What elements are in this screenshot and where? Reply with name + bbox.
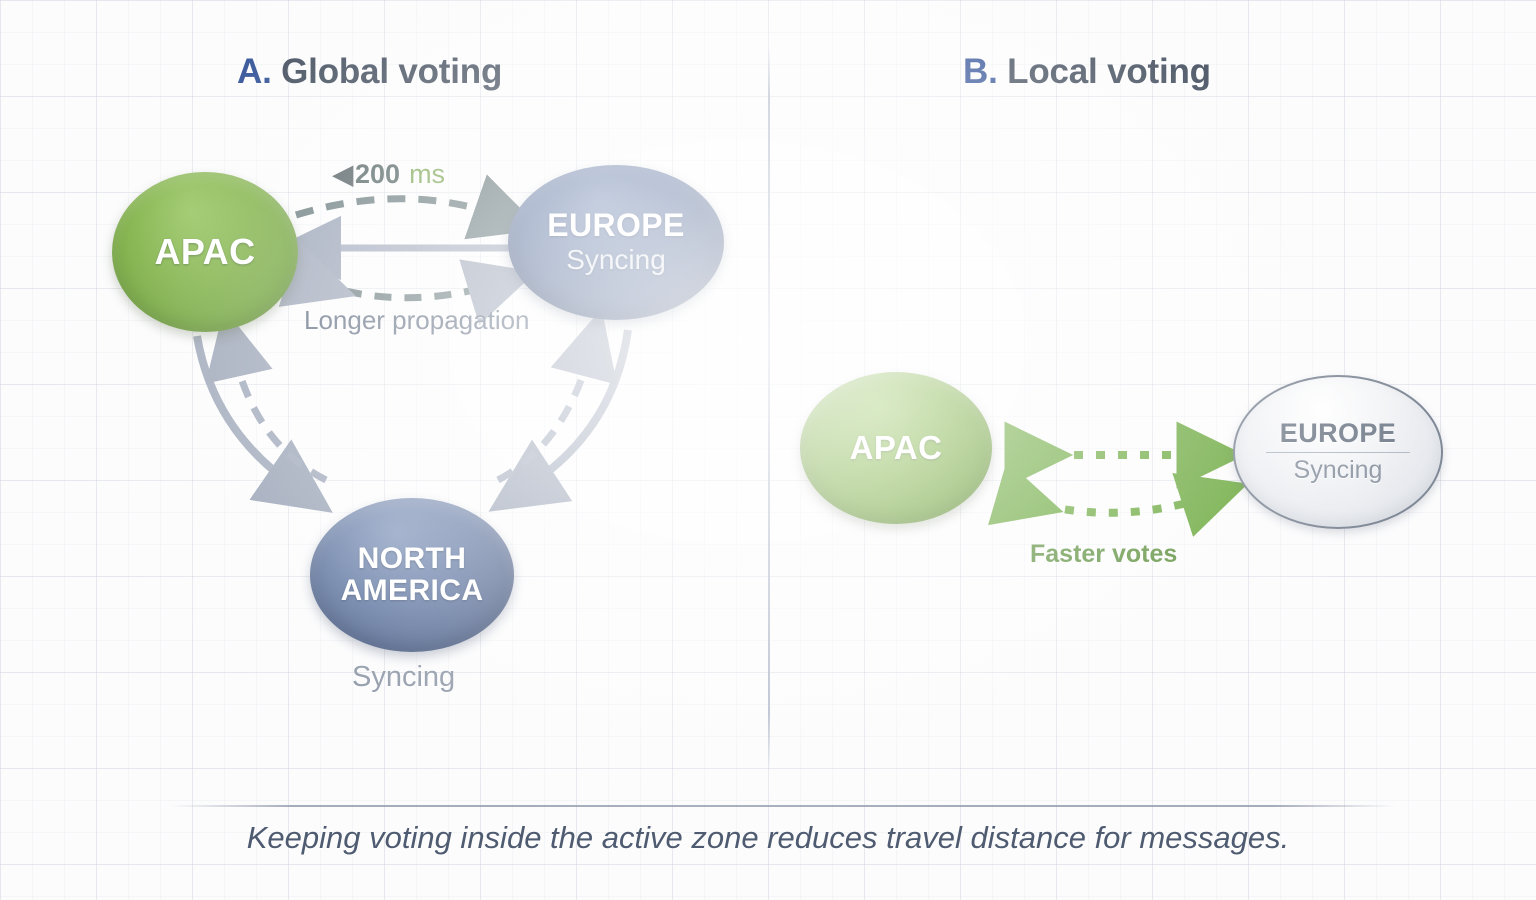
- node-north-america-title-line2: AMERICA: [341, 575, 484, 607]
- panel-a-title-text: Global voting: [281, 52, 502, 91]
- node-apac-global[interactable]: APAC: [112, 172, 298, 332]
- edge-apac-europe-dashed-top: [296, 199, 502, 216]
- panel-b-index: B.: [963, 52, 998, 91]
- node-north-america-title-line1: NORTH: [358, 543, 467, 575]
- node-europe-global-title: EUROPE: [547, 209, 685, 243]
- caption-divider: [170, 805, 1396, 807]
- node-europe-global[interactable]: EUROPE Syncing: [508, 165, 724, 320]
- longer-propagation-label: Longer propagation: [304, 305, 530, 336]
- edge-apac-europe-dashed-bottom: [316, 283, 496, 298]
- edge-europe-na-solid: [528, 330, 628, 486]
- node-europe-global-status: Syncing: [566, 244, 666, 276]
- node-apac-local-title: APAC: [850, 431, 943, 466]
- figure-caption: Keeping voting inside the active zone re…: [0, 820, 1536, 856]
- latency-value: 200: [355, 159, 400, 190]
- edge-na-apac-dashed: [233, 349, 326, 480]
- edge-na-europe-dashed: [498, 349, 591, 480]
- node-apac-global-title: APAC: [155, 233, 256, 271]
- node-europe-local-status: Syncing: [1294, 456, 1383, 485]
- edge-b-apac-europe-dotted-bottom: [1022, 497, 1207, 513]
- panel-divider: [768, 46, 770, 771]
- node-europe-local-rule: [1266, 452, 1410, 453]
- panel-a-title: A. Global voting: [237, 52, 502, 92]
- edge-apac-na-solid: [197, 336, 294, 486]
- panel-b-title-text: Local voting: [1007, 52, 1211, 91]
- node-europe-local[interactable]: EUROPE Syncing: [1233, 375, 1443, 529]
- node-apac-local[interactable]: APAC: [800, 372, 992, 524]
- node-north-america-global[interactable]: NORTH AMERICA: [310, 498, 514, 652]
- diagram-canvas: A. Global voting B. Local voting: [0, 0, 1536, 900]
- panel-a-index: A.: [237, 52, 272, 91]
- latency-label: ◀ 200 ms: [333, 159, 445, 190]
- north-america-status-label: Syncing: [352, 661, 455, 694]
- panel-b-title: B. Local voting: [963, 52, 1211, 92]
- latency-unit: ms: [409, 159, 445, 190]
- node-europe-local-title: EUROPE: [1280, 419, 1396, 448]
- faster-votes-label: Faster votes: [1030, 540, 1177, 569]
- arrow-left-icon: ◀: [333, 161, 353, 187]
